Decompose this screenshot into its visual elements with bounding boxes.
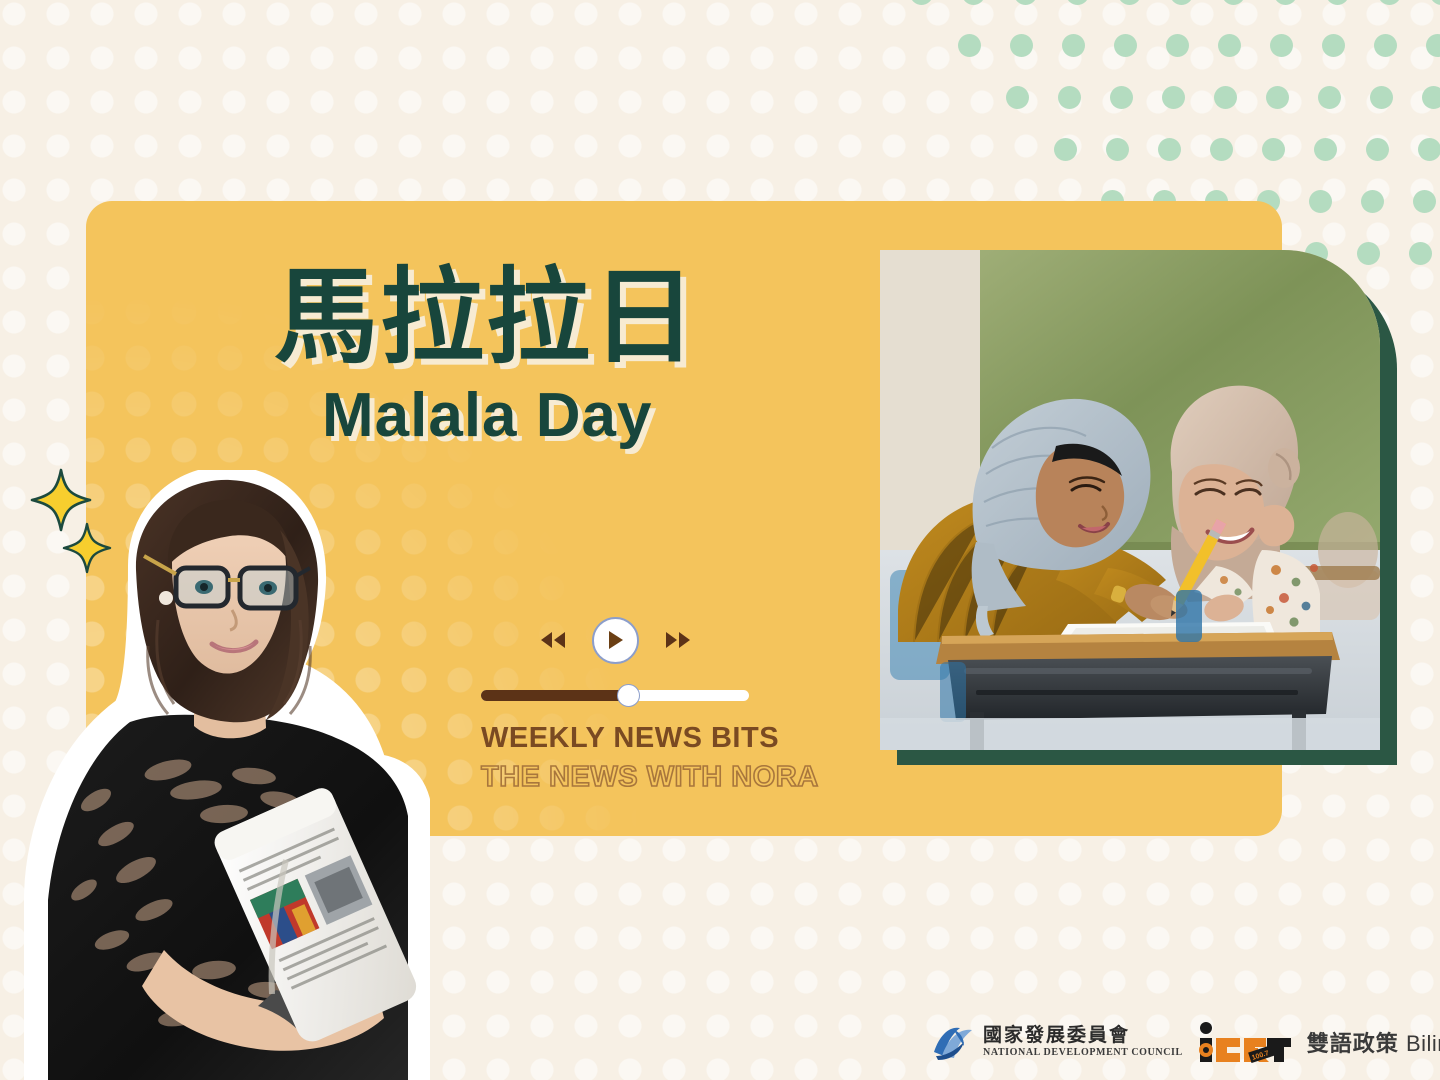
dot — [1422, 86, 1440, 109]
dot — [1262, 138, 1285, 161]
dot — [1374, 34, 1397, 57]
dot — [1430, 0, 1440, 5]
dot — [1357, 242, 1380, 265]
presenter-photo — [18, 470, 438, 1080]
ndc-name-en: NATIONAL DEVELOPMENT COUNCIL — [983, 1047, 1183, 1058]
dot — [1266, 86, 1289, 109]
dot — [1214, 86, 1237, 109]
dot — [1006, 86, 1029, 109]
ndc-name-zh: 國家發展委員會 — [983, 1026, 1183, 1047]
dot — [1210, 138, 1233, 161]
icrt-logo: 100.7 — [1197, 1021, 1293, 1063]
dot — [910, 0, 933, 5]
dot — [1409, 242, 1432, 265]
dot — [1014, 0, 1037, 5]
dot — [1361, 190, 1384, 213]
dot-row — [910, 34, 1440, 58]
bilingual-zh: 雙語政策 — [1307, 1031, 1399, 1056]
ndc-logo: 國家發展委員會 NATIONAL DEVELOPMENT COUNCIL — [930, 1022, 1183, 1062]
dot — [1110, 86, 1133, 109]
progress-bar[interactable] — [481, 684, 749, 706]
dot — [1318, 86, 1341, 109]
dot — [1058, 86, 1081, 109]
dot — [1066, 0, 1089, 5]
footer-logos: 國家發展委員會 NATIONAL DEVELOPMENT COUNCIL — [930, 1014, 1440, 1070]
dot — [1218, 34, 1241, 57]
play-icon — [605, 629, 625, 651]
progress-knob[interactable] — [617, 684, 640, 707]
dot — [1378, 0, 1401, 5]
dot — [1322, 34, 1345, 57]
dot — [1222, 0, 1245, 5]
headline-block: 馬拉拉日 Malala Day — [274, 262, 834, 451]
dot-row — [910, 138, 1440, 162]
show-subtitle: THE NEWS WITH NORA — [481, 761, 749, 794]
dot — [1010, 34, 1033, 57]
dot — [1309, 190, 1332, 213]
dot — [1062, 34, 1085, 57]
fast-forward-icon[interactable] — [661, 625, 695, 655]
dot — [1370, 86, 1393, 109]
dot — [1170, 0, 1193, 5]
dot — [1054, 138, 1077, 161]
ndc-swoosh-icon — [930, 1022, 976, 1062]
page-title-zh: 馬拉拉日 — [274, 262, 834, 374]
dot — [1426, 34, 1440, 57]
dot — [1270, 34, 1293, 57]
dot-row — [910, 86, 1440, 110]
rewind-icon[interactable] — [536, 625, 570, 655]
dot — [1114, 34, 1137, 57]
dot — [958, 34, 981, 57]
bilingual-policy-label: 雙語政策 Bilingual Policy — [1307, 1026, 1440, 1058]
page-title-en: Malala Day — [322, 382, 834, 450]
dot — [1413, 190, 1436, 213]
audio-player: WEEKLY NEWS BITS THE NEWS WITH NORA — [481, 612, 749, 794]
dot — [1366, 138, 1389, 161]
player-controls — [481, 612, 749, 668]
dot — [1326, 0, 1349, 5]
dot — [1274, 0, 1297, 5]
progress-fill — [481, 690, 628, 701]
dot — [1418, 138, 1440, 161]
classroom-photo — [880, 250, 1380, 750]
dot — [1106, 138, 1129, 161]
dot — [1314, 138, 1337, 161]
bilingual-en: Bilingual Policy — [1406, 1031, 1440, 1056]
show-title: WEEKLY NEWS BITS — [481, 722, 749, 755]
dot — [1118, 0, 1141, 5]
dot — [1166, 34, 1189, 57]
dot — [1158, 138, 1181, 161]
dot-row — [910, 0, 1440, 6]
dot — [962, 0, 985, 5]
dot — [1162, 86, 1185, 109]
slide-canvas: 馬拉拉日 Malala Day — [0, 0, 1440, 1080]
play-button[interactable] — [592, 617, 639, 664]
